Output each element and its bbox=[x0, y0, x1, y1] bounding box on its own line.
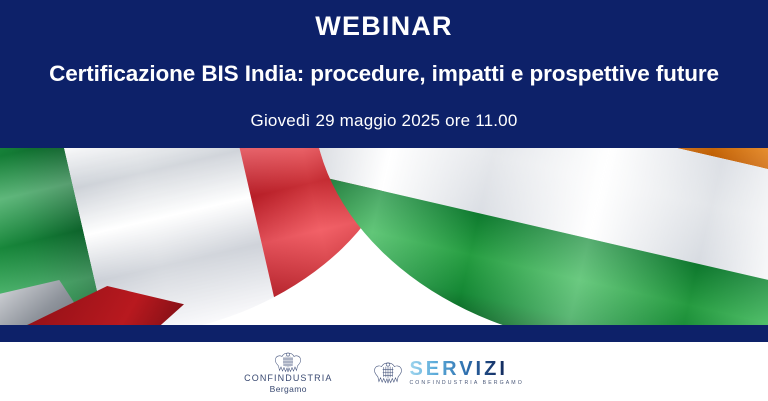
navy-divider-bar bbox=[0, 325, 768, 342]
webinar-date-time: Giovedì 29 maggio 2025 ore 11.00 bbox=[251, 112, 518, 131]
heraldic-eagle-icon bbox=[372, 360, 404, 385]
footer-logos: CONFINDUSTRIA Bergamo SERVIZI CONFINDUST… bbox=[0, 342, 768, 401]
india-flag bbox=[270, 148, 768, 325]
servizi-tagline: CONFINDUSTRIA BERGAMO bbox=[409, 380, 523, 387]
servizi-wordmark: SERVIZI bbox=[409, 359, 507, 379]
webinar-eyebrow-label: WEBINAR bbox=[315, 12, 452, 40]
heraldic-eagle-icon bbox=[273, 351, 303, 373]
banner-header: WEBINAR Certificazione BIS India: proced… bbox=[0, 0, 768, 148]
servizi-confindustria-bergamo-logo: SERVIZI CONFINDUSTRIA BERGAMO bbox=[372, 359, 523, 387]
flags-illustration bbox=[0, 148, 768, 325]
confindustria-city-label: Bergamo bbox=[270, 385, 307, 395]
webinar-banner: WEBINAR Certificazione BIS India: proced… bbox=[0, 0, 768, 401]
confindustria-wordmark: CONFINDUSTRIA bbox=[244, 374, 332, 384]
webinar-title: Certificazione BIS India: procedure, imp… bbox=[49, 62, 719, 87]
confindustria-bergamo-logo: CONFINDUSTRIA Bergamo bbox=[244, 351, 332, 395]
